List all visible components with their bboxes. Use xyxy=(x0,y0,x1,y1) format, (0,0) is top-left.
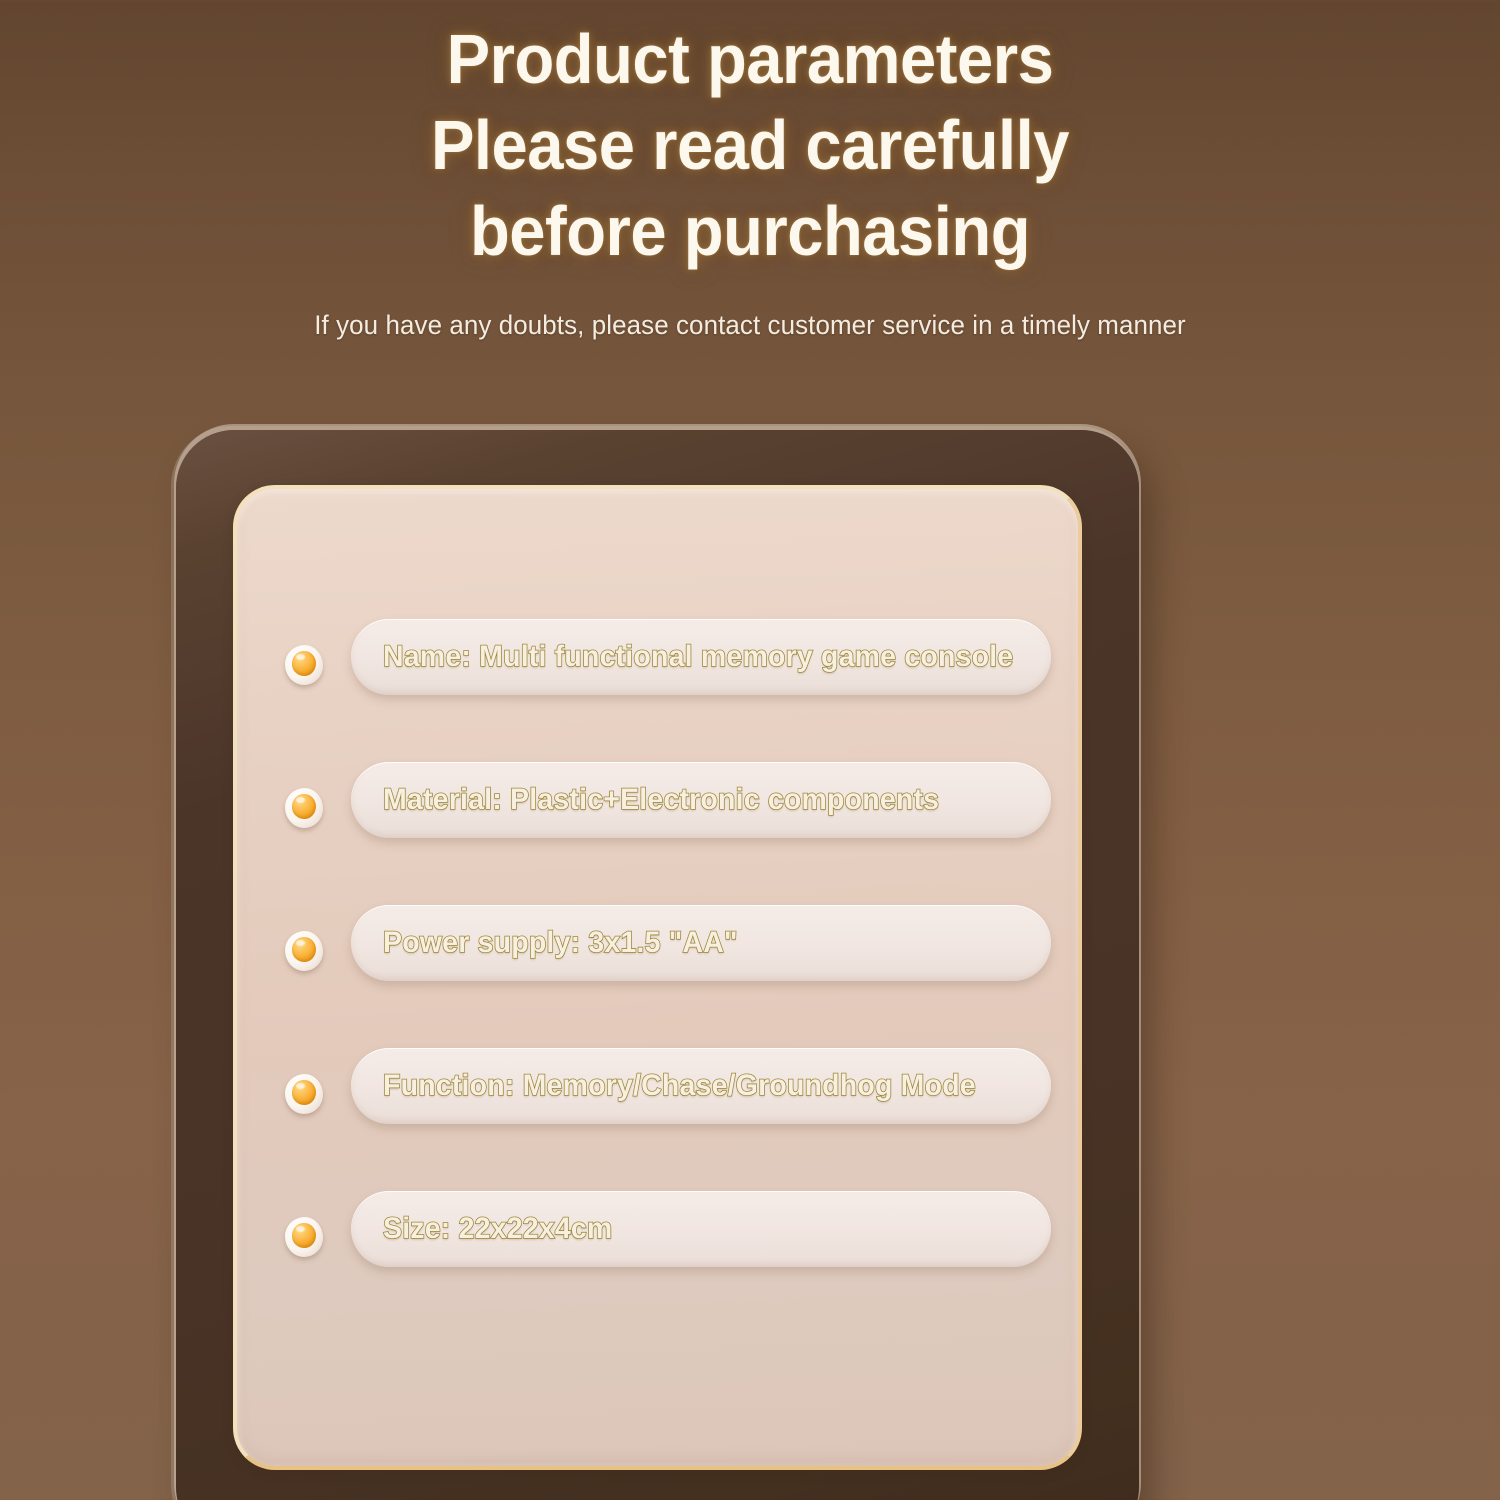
egg-highlight-shape xyxy=(296,1083,305,1089)
fried-egg-icon xyxy=(285,931,323,971)
page-title: Product parameters Please read carefully… xyxy=(53,16,1448,274)
parameter-label: Name: Multi functional memory game conso… xyxy=(383,640,1013,674)
page-title-line-3: before purchasing xyxy=(53,188,1448,274)
parameter-label: Power supply: 3x1.5 "AA" xyxy=(383,926,738,960)
parameter-label: Function: Memory/Chase/Groundhog Mode xyxy=(383,1069,976,1103)
parameters-card-frame: Name: Multi functional memory game conso… xyxy=(176,430,1139,1500)
page-subtitle: If you have any doubts, please contact c… xyxy=(30,310,1470,341)
parameter-label: Material: Plastic+Electronic components xyxy=(383,783,939,817)
egg-highlight-shape xyxy=(296,654,305,660)
egg-highlight-shape xyxy=(296,1226,305,1232)
list-item: Name: Multi functional memory game conso… xyxy=(237,619,1078,762)
parameter-pill: Power supply: 3x1.5 "AA" xyxy=(351,905,1051,981)
fried-egg-icon xyxy=(285,1074,323,1114)
fried-egg-icon xyxy=(285,1217,323,1257)
list-item: Function: Memory/Chase/Groundhog Mode xyxy=(237,1048,1078,1191)
parameter-pill: Material: Plastic+Electronic components xyxy=(351,762,1051,838)
fried-egg-icon xyxy=(285,788,323,828)
list-item: Power supply: 3x1.5 "AA" xyxy=(237,905,1078,1048)
page-title-line-2: Please read carefully xyxy=(53,102,1448,188)
list-item: Material: Plastic+Electronic components xyxy=(237,762,1078,905)
page-title-line-1: Product parameters xyxy=(53,16,1448,102)
egg-highlight-shape xyxy=(296,940,305,946)
parameter-pill: Size: 22x22x4cm xyxy=(351,1191,1051,1267)
egg-highlight-shape xyxy=(296,797,305,803)
parameter-pill: Function: Memory/Chase/Groundhog Mode xyxy=(351,1048,1051,1124)
parameter-pill: Name: Multi functional memory game conso… xyxy=(351,619,1051,695)
parameter-label: Size: 22x22x4cm xyxy=(383,1212,612,1246)
parameters-list: Name: Multi functional memory game conso… xyxy=(237,619,1078,1334)
parameters-card-panel: Name: Multi functional memory game conso… xyxy=(233,485,1082,1470)
fried-egg-icon xyxy=(285,645,323,685)
list-item: Size: 22x22x4cm xyxy=(237,1191,1078,1334)
page-header: Product parameters Please read carefully… xyxy=(0,0,1500,341)
